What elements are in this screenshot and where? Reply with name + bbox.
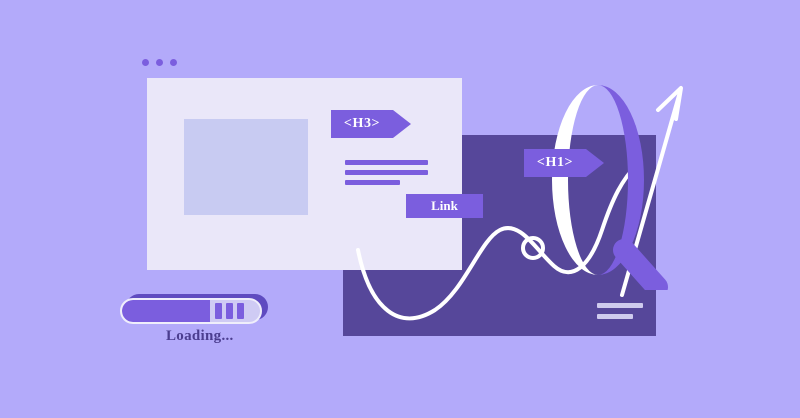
heading-tag-h1-label: <H1>: [537, 155, 573, 171]
loading-bar-segment-3: [237, 303, 244, 319]
loading-bar-segment-1: [215, 303, 222, 319]
window-dot-2-icon[interactable]: [156, 59, 163, 66]
loading-bar-track[interactable]: [120, 298, 262, 324]
magnifier-handle: [624, 250, 657, 287]
link-button[interactable]: Link: [406, 194, 483, 218]
window-controls: [142, 59, 177, 66]
magnifier-ring-dark: [598, 85, 644, 275]
magnifier-q-icon: [532, 75, 692, 290]
illustration-canvas: <H3> Link <H1> Loading...: [0, 0, 800, 418]
link-button-label: Link: [431, 198, 458, 214]
window-dot-3-icon[interactable]: [170, 59, 177, 66]
magnifier-ring-light: [552, 85, 598, 275]
heading-tag-h1[interactable]: <H1>: [524, 149, 586, 177]
image-placeholder: [184, 119, 308, 215]
loading-bar-fill: [122, 300, 210, 322]
loading-bar-segment-2: [226, 303, 233, 319]
window-dot-1-icon[interactable]: [142, 59, 149, 66]
loading-indicator[interactable]: [120, 294, 268, 324]
loading-label: Loading...: [166, 328, 234, 345]
